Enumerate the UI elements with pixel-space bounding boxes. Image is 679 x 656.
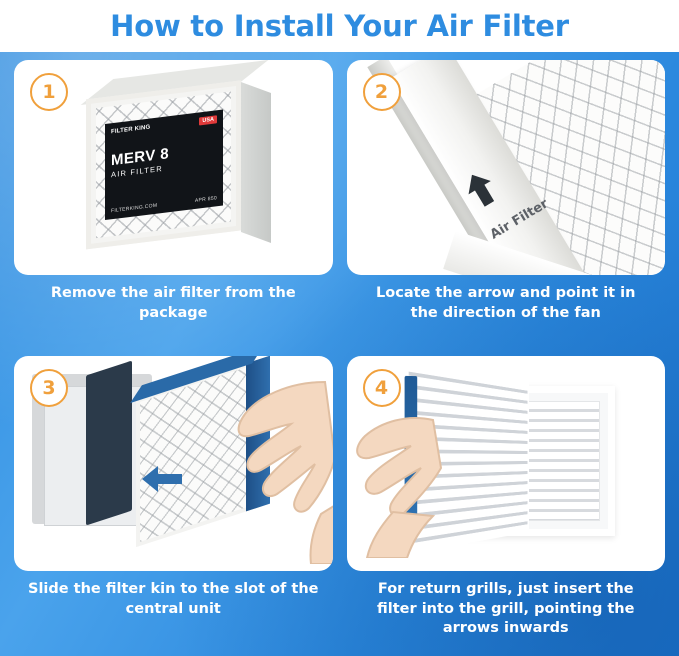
infographic-page: How to Install Your Air Filter 1 FILTER … <box>0 0 679 656</box>
filter-slot <box>86 361 132 526</box>
brand-name: FILTER KING <box>111 124 150 136</box>
step-4-badge: 4 <box>363 369 401 407</box>
air-filter-box: FILTER KING USA MERV 8 AIR FILTER FILTER… <box>86 77 271 255</box>
filter-front-face: FILTER KING USA MERV 8 AIR FILTER FILTER… <box>86 80 241 249</box>
step-3-card: 3 <box>14 356 333 571</box>
step-1-caption: Remove the air filter from the package <box>14 284 333 323</box>
apr-rating-text: APR 850 <box>195 195 217 204</box>
hand-icon <box>347 408 451 558</box>
filter-side-face <box>241 82 271 243</box>
steps-grid: 1 FILTER KING USA MERV 8 <box>14 60 665 646</box>
step-1: 1 FILTER KING USA MERV 8 <box>14 60 333 350</box>
hand-icon <box>217 374 333 564</box>
step-4-card: 4 <box>347 356 666 571</box>
usa-badge: USA <box>199 115 217 125</box>
filter-label: FILTER KING USA MERV 8 AIR FILTER FILTER… <box>105 110 223 220</box>
step-2-caption: Locate the arrow and point it in the dir… <box>347 284 666 323</box>
step-3: 3 <box>14 356 333 646</box>
left-arrow-icon <box>142 466 182 497</box>
page-title: How to Install Your Air Filter <box>110 9 569 43</box>
step-4-caption: For return grills, just insert the filte… <box>347 580 666 639</box>
step-4: 4 For return grills, just insert t <box>347 356 666 646</box>
step-1-card: 1 FILTER KING USA MERV 8 <box>14 60 333 275</box>
step-2: 2 Air Filter Locate the arrow and point … <box>347 60 666 350</box>
step-2-card: 2 Air Filter <box>347 60 666 275</box>
step-1-badge: 1 <box>30 73 68 111</box>
step-3-badge: 3 <box>30 369 68 407</box>
website-text: FILTERKING.COM <box>111 203 157 215</box>
title-bar: How to Install Your Air Filter <box>0 0 679 52</box>
step-2-badge: 2 <box>363 73 401 111</box>
step-3-caption: Slide the filter kin to the slot of the … <box>14 580 333 619</box>
